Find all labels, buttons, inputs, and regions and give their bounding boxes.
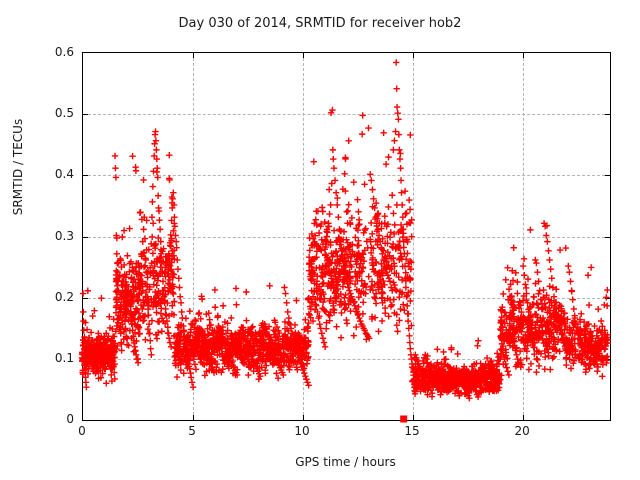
data-point-plus (352, 303, 358, 309)
data-point-plus (153, 147, 159, 153)
y-axis-tick-label: 0.5 (34, 106, 74, 120)
data-point-plus (549, 275, 555, 281)
data-point-plus (159, 328, 165, 334)
data-point-plus (179, 315, 185, 321)
data-point-plus (170, 189, 176, 195)
data-point-plus (547, 266, 553, 272)
data-point-plus (320, 335, 326, 341)
data-point-plus (342, 154, 348, 160)
data-point-plus (137, 330, 143, 336)
data-point-plus (543, 232, 549, 238)
data-point-plus (313, 217, 319, 223)
data-point-plus (245, 372, 251, 378)
data-point-plus (286, 315, 292, 321)
data-point-plus (321, 339, 327, 345)
data-point-plus (544, 238, 550, 244)
data-point-plus (305, 382, 311, 388)
data-point-plus (327, 202, 333, 208)
data-point-plus (153, 309, 159, 315)
data-point-plus (149, 234, 155, 240)
data-point-plus (344, 320, 350, 326)
data-point-plus (517, 298, 523, 304)
data-point-plus (407, 206, 413, 212)
data-point-plus (347, 290, 353, 296)
data-point-plus (523, 285, 529, 291)
data-point-plus (520, 263, 526, 269)
data-point-plus (124, 253, 130, 259)
data-point-plus (355, 209, 361, 215)
y-axis-tick-label: 0.3 (34, 229, 74, 243)
data-point-plus (338, 335, 344, 341)
data-point-plus (158, 310, 164, 316)
data-point-plus (313, 303, 319, 309)
data-point-plus (346, 287, 352, 293)
data-point-plus (372, 314, 378, 320)
data-point-plus (112, 165, 118, 171)
data-point-plus (533, 369, 539, 375)
data-point-plus (190, 384, 196, 390)
data-point-plus (599, 373, 605, 379)
data-point-plus (345, 138, 351, 144)
data-point-plus (407, 132, 413, 138)
data-point-plus (563, 355, 569, 361)
data-point-plus (150, 183, 156, 189)
data-point-plus (178, 300, 184, 306)
data-point-plus (365, 125, 371, 131)
data-point-plus (177, 293, 183, 299)
data-point-plus (220, 303, 226, 309)
data-point-plus (322, 344, 328, 350)
data-point-plus (112, 153, 118, 159)
data-point-plus (281, 284, 287, 290)
data-points-layer (82, 52, 609, 419)
data-point-plus (389, 192, 395, 198)
data-point-plus (351, 179, 357, 185)
data-point-plus (367, 171, 373, 177)
data-point-plus (352, 234, 358, 240)
data-point-plus (228, 315, 234, 321)
data-point-plus (329, 180, 335, 186)
data-point-plus (567, 278, 573, 284)
data-point-plus (454, 351, 460, 357)
data-point-plus (595, 306, 601, 312)
data-point-plus (330, 156, 336, 162)
data-point-plus (546, 257, 552, 263)
data-point-plus (147, 345, 153, 351)
data-point-plus (588, 264, 594, 270)
data-point-plus (392, 222, 398, 228)
data-point-plus (156, 208, 162, 214)
data-point-plus (338, 310, 344, 316)
data-point-plus (176, 275, 182, 281)
data-point-plus (148, 352, 154, 358)
data-point-plus (154, 174, 160, 180)
data-point-plus (566, 269, 572, 275)
data-point-plus (368, 177, 374, 183)
data-point-plus (114, 251, 120, 257)
data-point-plus (331, 165, 337, 171)
data-point-plus (557, 247, 563, 253)
data-point-plus (534, 357, 540, 363)
data-point-plus (359, 112, 365, 118)
data-point-plus (528, 361, 534, 367)
data-point-plus (365, 273, 371, 279)
data-point-plus (440, 349, 446, 355)
y-axis-tick-label: 0.4 (34, 167, 74, 181)
data-point-plus (532, 257, 538, 263)
data-point-plus (394, 328, 400, 334)
data-point-plus (551, 354, 557, 360)
data-point-plus (373, 300, 379, 306)
data-point-plus (368, 220, 374, 226)
data-point-plus (332, 177, 338, 183)
data-point-plus (150, 168, 156, 174)
data-point-plus (586, 302, 592, 308)
data-point-plus (545, 248, 551, 254)
data-point-plus (513, 352, 519, 358)
data-point-plus (547, 366, 553, 372)
data-point-plus (387, 278, 393, 284)
data-point-plus (375, 328, 381, 334)
data-point-plus (343, 237, 349, 243)
data-point-plus (139, 306, 145, 312)
data-point-plus (196, 310, 202, 316)
data-point-plus (145, 303, 151, 309)
data-point-plus (126, 225, 132, 231)
data-point-plus (385, 313, 391, 319)
data-point-plus (372, 295, 378, 301)
data-point-plus (319, 330, 325, 336)
data-point-plus (326, 211, 332, 217)
data-point-plus (361, 181, 367, 187)
data-point-plus (140, 226, 146, 232)
data-point-plus (369, 186, 375, 192)
data-point-plus (283, 300, 289, 306)
data-point-plus (434, 346, 440, 352)
data-point-plus (174, 257, 180, 263)
data-point-plus (140, 177, 146, 183)
data-point-plus (556, 348, 562, 354)
data-point-plus (542, 366, 548, 372)
data-point-plus (494, 350, 500, 356)
data-point-plus (142, 337, 148, 343)
data-point-plus (510, 245, 516, 251)
data-point-plus (175, 266, 181, 272)
data-point-plus (393, 86, 399, 92)
data-point-plus (341, 171, 347, 177)
data-point-plus (351, 332, 357, 338)
data-point-plus (399, 202, 405, 208)
data-point-plus (500, 291, 506, 297)
data-point-plus (526, 366, 532, 372)
data-point-plus (396, 131, 402, 137)
data-point-plus (326, 186, 332, 192)
data-point-plus (103, 380, 109, 386)
data-point-plus (333, 189, 339, 195)
data-point-plus (189, 379, 195, 385)
data-point-plus (521, 256, 527, 262)
data-point-plus (563, 245, 569, 251)
y-axis-title: SRMTID / TECUs (11, 87, 25, 247)
data-point-plus (152, 128, 158, 134)
data-point-plus (405, 318, 411, 324)
data-point-plus (333, 323, 339, 329)
data-point-plus (404, 311, 410, 317)
data-point-plus (397, 156, 403, 162)
data-point-plus (149, 214, 155, 220)
data-point-plus (403, 210, 409, 216)
data-point-plus (303, 376, 309, 382)
data-point-plus (212, 304, 218, 310)
data-point-plus (311, 158, 317, 164)
data-point-plus (335, 214, 341, 220)
data-point-plus (174, 374, 180, 380)
page-title: Day 030 of 2014, SRMTID for receiver hob… (0, 16, 640, 31)
data-point-plus (137, 210, 143, 216)
data-point-plus (382, 213, 388, 219)
data-point-plus (113, 174, 119, 180)
data-point-plus (323, 325, 329, 331)
data-point-plus (354, 196, 360, 202)
data-point-plus (166, 177, 172, 183)
data-point-plus (282, 290, 288, 296)
data-point-plus (393, 59, 399, 65)
data-point-plus (506, 372, 512, 378)
data-point-plus (475, 338, 481, 344)
data-point-plus (356, 221, 362, 227)
data-point-plus (81, 327, 87, 333)
data-point-plus (262, 370, 268, 376)
data-point-plus (206, 316, 212, 322)
data-point-plus (135, 360, 141, 366)
data-point-plus (398, 177, 404, 183)
data-point-plus (503, 277, 509, 283)
data-point-plus (530, 294, 536, 300)
data-point-plus (154, 335, 160, 341)
data-point-plus (334, 202, 340, 208)
data-point-plus (330, 147, 336, 153)
data-point-plus (121, 227, 127, 233)
data-point-plus (443, 356, 449, 362)
data-point-plus (176, 284, 182, 290)
data-point-plus (395, 116, 401, 122)
data-point-plus (129, 153, 135, 159)
data-point-plus (285, 309, 291, 315)
data-point-plus (523, 355, 529, 361)
y-axis-tick-label: 0.6 (34, 45, 74, 59)
data-point-plus (167, 339, 173, 345)
x-axis-tick-label: 0 (62, 424, 102, 438)
data-point-plus (318, 325, 324, 331)
data-point-plus (402, 188, 408, 194)
data-point-plus (407, 339, 413, 345)
data-point-plus (119, 234, 125, 240)
data-point-plus (546, 283, 552, 289)
data-point-plus (193, 366, 199, 372)
data-point-plus (407, 345, 413, 351)
data-point-plus (392, 128, 398, 134)
data-point-plus (304, 379, 310, 385)
data-point-plus (168, 243, 174, 249)
data-point-plus (514, 290, 520, 296)
data-point-plus (301, 370, 307, 376)
data-point-plus (514, 279, 520, 285)
data-point-plus (173, 238, 179, 244)
data-point-plus (334, 195, 340, 201)
x-axis-tick-label: 10 (282, 424, 322, 438)
data-point-plus (383, 161, 389, 167)
data-point-plus (585, 272, 591, 278)
data-point-plus (535, 291, 541, 297)
data-point-plus (316, 321, 322, 327)
data-point-plus (380, 130, 386, 136)
data-point-plus (162, 306, 168, 312)
data-point-plus (505, 368, 511, 374)
data-point-plus (412, 352, 418, 358)
data-point-plus (118, 347, 124, 353)
data-point-plus (397, 150, 403, 156)
data-point-plus (398, 189, 404, 195)
data-point-plus (267, 283, 273, 289)
data-point-plus (578, 311, 584, 317)
data-point-plus (133, 168, 139, 174)
data-point-plus (536, 363, 542, 369)
data-point-plus (243, 289, 249, 295)
data-point-plus (394, 104, 400, 110)
data-point-plus (355, 238, 361, 244)
data-point-plus (354, 243, 360, 249)
scatter-plot-figure: Day 030 of 2014, SRMTID for receiver hob… (0, 0, 640, 480)
data-point-plus (150, 220, 156, 226)
data-point-plus (327, 313, 333, 319)
data-point-plus (320, 280, 326, 286)
data-point-plus (151, 141, 157, 147)
data-point-plus (397, 165, 403, 171)
data-point-plus (395, 110, 401, 116)
data-point-plus (534, 269, 540, 275)
data-point-plus (571, 306, 577, 312)
data-point-plus (344, 209, 350, 215)
data-point-plus (563, 362, 569, 368)
data-point-plus (192, 361, 198, 367)
data-point-square (400, 416, 407, 423)
data-point-plus (603, 294, 609, 300)
data-point-plus (390, 210, 396, 216)
data-point-plus (542, 354, 548, 360)
data-point-plus (154, 165, 160, 171)
data-point-plus (503, 364, 509, 370)
data-point-plus (331, 227, 337, 233)
data-point-plus (379, 318, 385, 324)
y-axis-tick-label: 0.1 (34, 351, 74, 365)
data-point-plus (389, 287, 395, 293)
data-point-plus (527, 227, 533, 233)
data-point-plus (187, 308, 193, 314)
data-point-plus (568, 287, 574, 293)
data-point-plus (594, 368, 600, 374)
data-point-plus (166, 152, 172, 158)
data-point-plus (325, 220, 331, 226)
y-axis-tick-label: 0.2 (34, 290, 74, 304)
x-axis-title: GPS time / hours (82, 455, 609, 469)
data-point-plus (155, 193, 161, 199)
data-point-plus (359, 131, 365, 137)
data-point-plus (407, 298, 413, 304)
data-point-plus (385, 154, 391, 160)
x-axis-tick-label: 15 (392, 424, 432, 438)
data-point-plus (156, 217, 162, 223)
data-point-plus (474, 343, 480, 349)
data-point-plus (83, 384, 89, 390)
data-point-plus (212, 287, 218, 293)
data-point-plus (406, 197, 412, 203)
data-point-plus (243, 317, 249, 323)
data-point-plus (569, 297, 575, 303)
data-point-plus (360, 299, 366, 305)
data-point-plus (98, 295, 104, 301)
data-point-plus (80, 309, 86, 315)
data-point-plus (533, 260, 539, 266)
data-point-plus (396, 147, 402, 153)
data-point-plus (157, 226, 163, 232)
data-point-plus (390, 147, 396, 153)
data-point-plus (292, 322, 298, 328)
data-point-plus (386, 275, 392, 281)
data-point-plus (178, 309, 184, 315)
data-point-plus (521, 272, 527, 278)
data-point-plus (406, 333, 412, 339)
data-point-plus (155, 318, 161, 324)
data-point-plus (188, 374, 194, 380)
data-point-plus (81, 334, 87, 340)
data-point-plus (565, 263, 571, 269)
data-point-plus (536, 287, 542, 293)
data-point-plus (385, 204, 391, 210)
data-point-plus (391, 137, 397, 143)
data-point-plus (147, 338, 153, 344)
data-point-plus (514, 356, 520, 362)
data-point-plus (302, 373, 308, 379)
data-point-plus (233, 285, 239, 291)
data-point-plus (345, 208, 351, 214)
data-point-plus (149, 199, 155, 205)
x-axis-tick-label: 20 (502, 424, 542, 438)
data-point-plus (598, 318, 604, 324)
data-point-plus (233, 301, 239, 307)
data-point-plus (345, 201, 351, 207)
data-point-plus (153, 137, 159, 143)
data-point-plus (293, 297, 299, 303)
x-axis-tick-label: 5 (172, 424, 212, 438)
data-point-plus (134, 356, 140, 362)
